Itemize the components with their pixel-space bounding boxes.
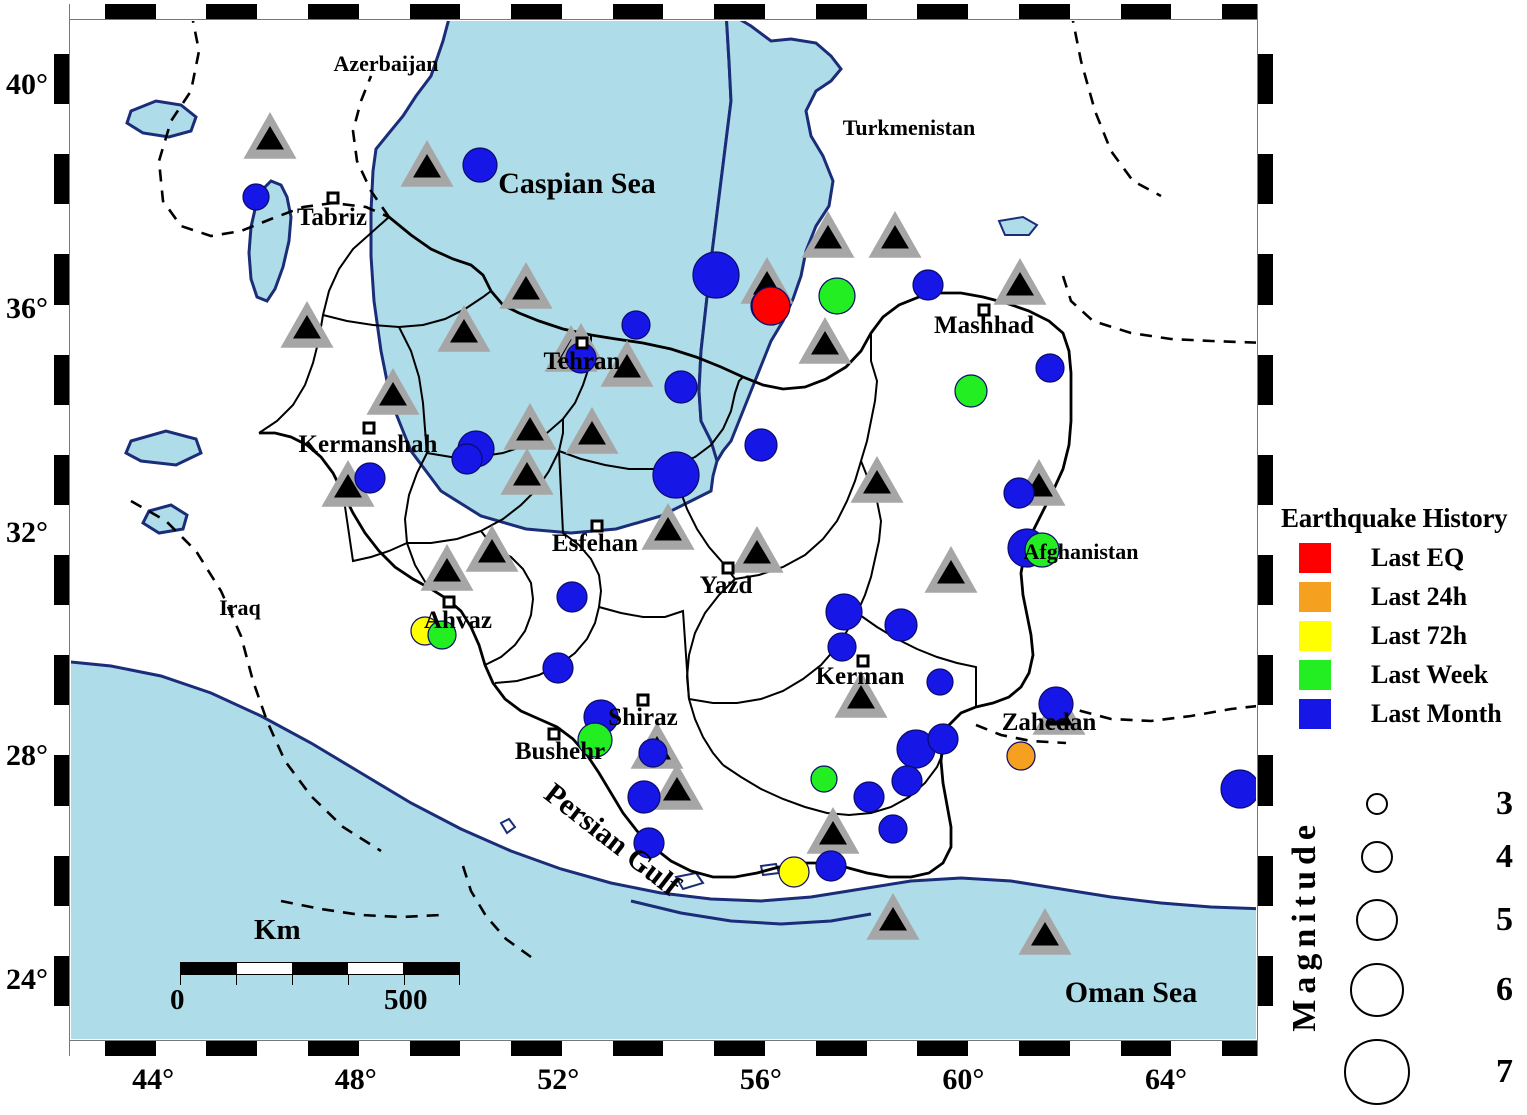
lat-tick-label-36: 36° (0, 292, 48, 326)
city-label-yazd: Yazd (700, 572, 753, 600)
lon-tick-label-56: 56° (740, 1063, 782, 1097)
city-label-esfehan: Esfehan (552, 530, 638, 558)
earthquake-marker[interactable] (665, 371, 697, 403)
earthquake-marker[interactable] (779, 857, 809, 887)
country-label-azerbaijan: Azerbaijan (333, 51, 438, 77)
lat-tick-label-32: 32° (0, 516, 48, 550)
earthquake-marker[interactable] (826, 594, 862, 630)
city-label-shiraz: Shiraz (608, 704, 677, 732)
earthquake-marker[interactable] (811, 766, 837, 792)
legend-rows: Last EQLast 24hLast 72hLast WeekLast Mon… (1281, 543, 1527, 729)
gulf-island-a (501, 819, 515, 833)
lake-van (127, 101, 196, 137)
legend-row-last-72h[interactable]: Last 72h (1281, 621, 1527, 651)
earthquake-marker[interactable] (639, 739, 667, 767)
city-label-zahedan: Zahedan (1002, 709, 1096, 737)
legend-row-last-eq[interactable]: Last EQ (1281, 543, 1527, 573)
country-label-iraq: Iraq (219, 595, 261, 621)
city-label-kerman: Kerman (816, 663, 905, 691)
city-marker-tabriz[interactable] (327, 192, 340, 205)
legend-row-last-24h[interactable]: Last 24h (1281, 582, 1527, 612)
magnitude-row-4: 4 (1343, 831, 1527, 883)
earthquake-marker[interactable] (819, 278, 855, 314)
earthquake-marker[interactable] (622, 311, 650, 339)
city-label-tabriz: Tabriz (297, 204, 367, 232)
magnitude-circle-6 (1350, 963, 1404, 1017)
magnitude-circle-4 (1361, 841, 1393, 873)
earthquake-history-legend: Earthquake History Last EQLast 24hLast 7… (1281, 503, 1527, 729)
lake-iraq-b (143, 505, 187, 533)
earthquake-marker[interactable] (816, 851, 846, 881)
earthquake-marker[interactable] (745, 429, 777, 461)
earthquake-marker[interactable] (879, 815, 907, 843)
country-label-afghanistan: Afghanistan (1024, 539, 1139, 565)
lon-tick-label-60: 60° (942, 1063, 984, 1097)
magnitude-value-label: 4 (1496, 838, 1527, 876)
scale-start-label: 0 (170, 984, 185, 1017)
legend-swatch-last-72h (1299, 621, 1331, 651)
earthquake-marker[interactable] (1036, 354, 1064, 382)
earthquake-marker[interactable] (955, 375, 987, 407)
earthquake-marker[interactable] (243, 184, 269, 210)
legend-label: Last 24h (1371, 582, 1467, 612)
earthquake-marker[interactable] (355, 463, 385, 493)
earthquake-marker[interactable] (628, 781, 660, 813)
scale-bar (180, 962, 460, 975)
legend-label: Last Week (1371, 660, 1488, 690)
country-label-turkmenistan: Turkmenistan (843, 115, 975, 141)
frame-tickband-bottom (54, 1040, 1273, 1056)
magnitude-row-6: 6 (1343, 953, 1527, 1027)
legend-swatch-last-week (1299, 660, 1331, 690)
earthquake-marker[interactable] (892, 766, 922, 796)
lon-tick-label-48: 48° (335, 1063, 377, 1097)
scale-end-label: 500 (384, 984, 428, 1017)
lat-tick-label-28: 28° (0, 739, 48, 773)
magnitude-circle-3 (1366, 793, 1388, 815)
legend-swatch-last-24h (1299, 582, 1331, 612)
map-container: TabrizTehranMashhadKermanshahEsfehanYazd… (54, 4, 1273, 1056)
legend-row-last-month[interactable]: Last Month (1281, 699, 1527, 729)
magnitude-legend: Magnitude 34567 (1281, 775, 1527, 1075)
earthquake-marker[interactable] (854, 782, 884, 812)
legend-row-last-week[interactable]: Last Week (1281, 660, 1527, 690)
earthquake-marker[interactable] (927, 669, 953, 695)
earthquake-marker[interactable] (557, 582, 587, 612)
earthquake-marker[interactable] (928, 724, 958, 754)
magnitude-row-5: 5 (1343, 889, 1527, 951)
legend-title: Earthquake History (1281, 503, 1527, 534)
scale-tick-200 (292, 975, 293, 985)
earthquake-marker[interactable] (828, 633, 856, 661)
frame-tickband-left (54, 4, 70, 1056)
city-label-kermanshah: Kermanshah (299, 431, 438, 459)
lat-tick-label-40: 40° (0, 68, 48, 102)
city-label-tehran: Tehran (544, 348, 621, 376)
legend-label: Last Month (1371, 699, 1502, 729)
magnitude-row-7: 7 (1343, 1029, 1527, 1115)
legend-label: Last 72h (1371, 621, 1467, 651)
lon-tick-label-44: 44° (132, 1063, 174, 1097)
magnitude-circle-5 (1356, 899, 1398, 941)
scale-tick-500 (459, 975, 460, 985)
lat-tick-label-24: 24° (0, 963, 48, 997)
earthquake-marker[interactable] (653, 452, 699, 498)
earthquake-marker[interactable] (463, 148, 497, 182)
scale-tick-300 (348, 975, 349, 985)
city-label-mashhad: Mashhad (934, 312, 1034, 340)
lake-turkmen (999, 217, 1037, 235)
magnitude-value-label: 6 (1496, 971, 1527, 1009)
magnitude-value-label: 3 (1496, 785, 1527, 823)
legend-swatch-last-month (1299, 699, 1331, 729)
city-label-ahvaz: Ahvaz (424, 607, 492, 635)
magnitude-value-label: 5 (1496, 901, 1527, 939)
magnitude-circle-7 (1344, 1039, 1410, 1105)
frame-tickband-right (1257, 4, 1273, 1056)
lake-iraq-a (126, 431, 201, 465)
sea-label-caspian-sea: Caspian Sea (498, 167, 656, 201)
earthquake-marker[interactable] (543, 653, 573, 683)
lon-tick-label-52: 52° (537, 1063, 579, 1097)
legend-label: Last EQ (1371, 543, 1464, 573)
earthquake-marker[interactable] (752, 287, 790, 325)
magnitude-legend-title: Magnitude (1275, 775, 1335, 1075)
lon-tick-label-64: 64° (1145, 1063, 1187, 1097)
magnitude-value-label: 7 (1496, 1053, 1527, 1091)
sea-label-oman-sea: Oman Sea (1065, 976, 1198, 1010)
earthquake-marker[interactable] (913, 270, 943, 300)
scale-unit-label: Km (254, 914, 301, 947)
city-label-bushehr: Bushehr (515, 738, 605, 766)
scale-tick-100 (236, 975, 237, 985)
earthquake-marker[interactable] (1007, 742, 1035, 770)
magnitude-legend-title-text: Magnitude (1286, 819, 1324, 1032)
earthquake-marker[interactable] (693, 252, 739, 298)
earthquake-marker[interactable] (885, 609, 917, 641)
magnitude-row-3: 3 (1343, 783, 1527, 825)
earthquake-marker[interactable] (452, 444, 482, 474)
frame-tickband-top (54, 4, 1273, 20)
earthquake-marker[interactable] (1221, 770, 1256, 808)
legend-swatch-last-eq (1299, 543, 1331, 573)
earthquake-marker[interactable] (1004, 478, 1034, 508)
